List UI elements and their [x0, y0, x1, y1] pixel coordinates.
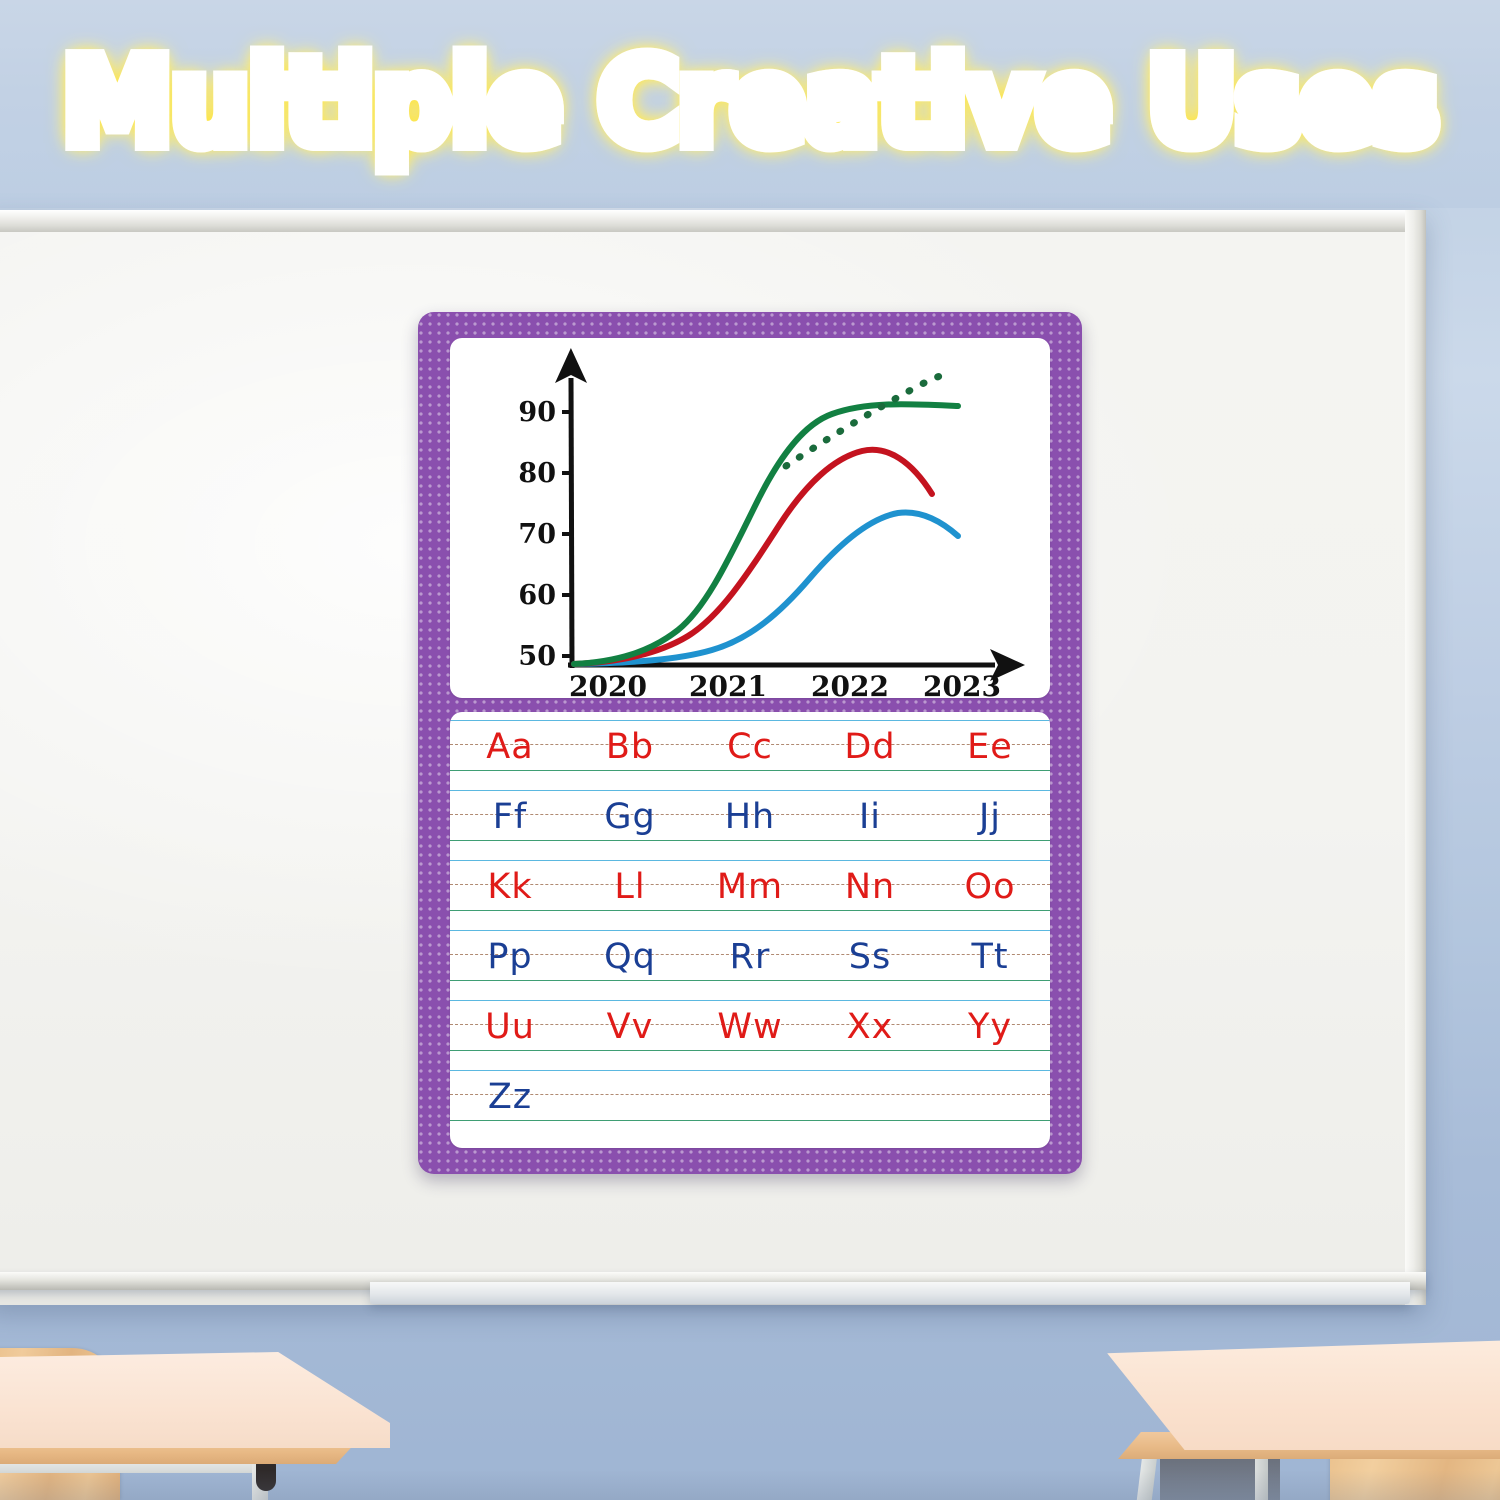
letter-cell: Ss [810, 928, 930, 986]
svg-text:50: 50 [518, 641, 556, 672]
letter-cell: Dd [810, 718, 930, 776]
alphabet-letters: Aa Bb Cc Dd Ee [450, 716, 1050, 778]
alphabet-row: Pp Qq Rr Ss Tt [450, 930, 1050, 992]
letter-cell: Tt [930, 928, 1050, 986]
whiteboard-frame-top [0, 210, 1426, 232]
letter-cell: Hh [690, 788, 810, 846]
letter-cell: Ee [930, 718, 1050, 776]
letter-cell: Zz [450, 1068, 570, 1126]
letter-cell: Mm [690, 858, 810, 916]
alphabet-letters: Pp Qq Rr Ss Tt [450, 926, 1050, 988]
screenshot-root: Multiple Creative Uses Multiple Creative… [0, 0, 1500, 1500]
letter-cell: Ii [810, 788, 930, 846]
chart-panel[interactable]: 50 60 70 80 90 2020 2021 2022 2023 [450, 338, 1050, 698]
letter-cell: Bb [570, 718, 690, 776]
floor-shadow [0, 1470, 1500, 1500]
letter-cell: Ll [570, 858, 690, 916]
alphabet-letters: Ff Gg Hh Ii Jj [450, 786, 1050, 848]
letter-cell: Yy [930, 998, 1050, 1056]
series-blue [574, 512, 958, 664]
y-axis [571, 378, 572, 668]
svg-text:2021: 2021 [689, 670, 767, 698]
whiteboard-tray-lip [370, 1282, 1410, 1304]
alphabet-letters: Zz [450, 1066, 1050, 1128]
y-axis-tick-labels: 50 60 70 80 90 [518, 397, 556, 672]
magnetic-poster-frame[interactable]: 50 60 70 80 90 2020 2021 2022 2023 [418, 312, 1082, 1174]
whiteboard-frame-right [1405, 210, 1426, 1305]
letter-cell: Nn [810, 858, 930, 916]
letter-cell: Ww [690, 998, 810, 1056]
svg-text:90: 90 [518, 397, 556, 428]
alphabet-row: Ff Gg Hh Ii Jj [450, 790, 1050, 852]
svg-text:2022: 2022 [811, 670, 889, 698]
letter-cell: Vv [570, 998, 690, 1056]
alphabet-letters: Uu Vv Ww Xx Yy [450, 996, 1050, 1058]
letter-cell: Aa [450, 718, 570, 776]
line-chart: 50 60 70 80 90 2020 2021 2022 2023 [450, 338, 1050, 698]
letter-cell: Jj [930, 788, 1050, 846]
alphabet-row: Zz [450, 1070, 1050, 1132]
letter-cell: Ff [450, 788, 570, 846]
alphabet-ruled-sheet: Aa Bb Cc Dd Ee Ff Gg Hh Ii [450, 712, 1050, 1148]
title-fill-layer: Multiple Creative Uses [63, 33, 1438, 171]
letter-cell: Cc [690, 718, 810, 776]
x-axis-tick-labels: 2020 2021 2022 2023 [569, 670, 1001, 698]
alphabet-letters: Kk Ll Mm Nn Oo [450, 856, 1050, 918]
title-text-block: Multiple Creative Uses Multiple Creative… [63, 38, 1438, 166]
letter-cell: Rr [690, 928, 810, 986]
letter-cell: Oo [930, 858, 1050, 916]
page-title: Multiple Creative Uses Multiple Creative… [0, 38, 1500, 178]
alphabet-row: Kk Ll Mm Nn Oo [450, 860, 1050, 922]
letter-cell: Qq [570, 928, 690, 986]
letter-cell: Gg [570, 788, 690, 846]
svg-text:70: 70 [518, 519, 556, 550]
letter-cell: Xx [810, 998, 930, 1056]
alphabet-row: Aa Bb Cc Dd Ee [450, 720, 1050, 782]
svg-text:60: 60 [518, 580, 556, 611]
alphabet-row: Uu Vv Ww Xx Yy [450, 1000, 1050, 1062]
letter-cell: Pp [450, 928, 570, 986]
svg-text:2023: 2023 [923, 670, 1001, 698]
alphabet-panel[interactable]: Aa Bb Cc Dd Ee Ff Gg Hh Ii [450, 712, 1050, 1148]
svg-text:80: 80 [518, 458, 556, 489]
letter-cell: Kk [450, 858, 570, 916]
letter-cell: Uu [450, 998, 570, 1056]
svg-text:2020: 2020 [569, 670, 647, 698]
